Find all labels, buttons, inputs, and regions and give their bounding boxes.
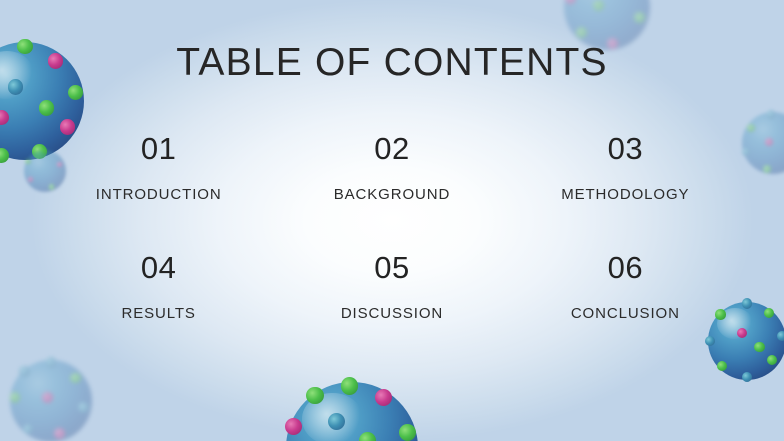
toc-item-label: CONCLUSION	[571, 306, 680, 321]
toc-item-number: 02	[374, 133, 409, 164]
toc-item-results[interactable]: 04 RESULTS	[42, 247, 275, 366]
toc-item-label: BACKGROUND	[334, 187, 451, 202]
table-of-contents-grid: 01 INTRODUCTION 02 BACKGROUND 03 METHODO…	[42, 128, 742, 366]
toc-item-methodology[interactable]: 03 METHODOLOGY	[509, 128, 742, 247]
slide-content: TABLE OF CONTENTS 01 INTRODUCTION 02 BAC…	[0, 0, 784, 441]
toc-item-introduction[interactable]: 01 INTRODUCTION	[42, 128, 275, 247]
toc-item-background[interactable]: 02 BACKGROUND	[275, 128, 508, 247]
page-title: TABLE OF CONTENTS	[0, 41, 784, 86]
slide-canvas: TABLE OF CONTENTS 01 INTRODUCTION 02 BAC…	[0, 0, 784, 441]
toc-item-number: 06	[608, 252, 643, 283]
toc-item-number: 04	[141, 252, 176, 283]
toc-item-number: 05	[374, 252, 409, 283]
toc-item-label: RESULTS	[121, 306, 195, 321]
toc-item-label: INTRODUCTION	[96, 187, 222, 202]
toc-item-conclusion[interactable]: 06 CONCLUSION	[509, 247, 742, 366]
toc-item-discussion[interactable]: 05 DISCUSSION	[275, 247, 508, 366]
toc-item-label: METHODOLOGY	[561, 187, 689, 202]
toc-item-label: DISCUSSION	[341, 306, 443, 321]
toc-item-number: 01	[141, 133, 176, 164]
toc-item-number: 03	[608, 133, 643, 164]
